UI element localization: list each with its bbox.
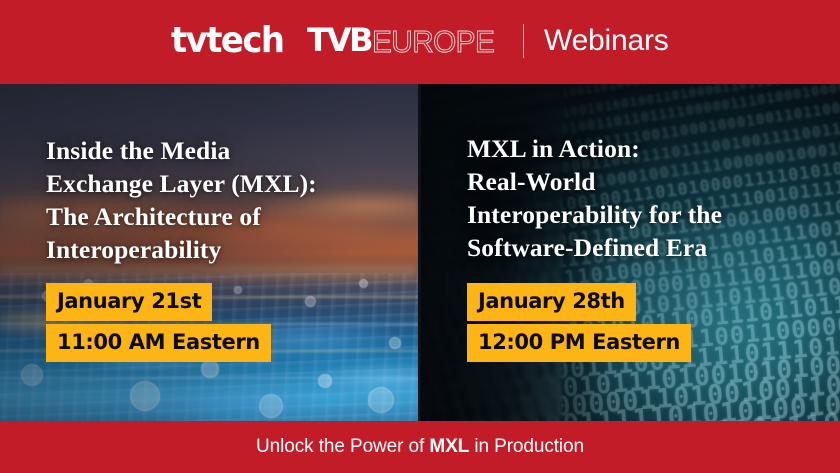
- webinar-title-left: Inside the Media Exchange Layer (MXL): T…: [46, 134, 404, 267]
- title-line: Interoperability for the: [467, 198, 832, 231]
- tvbeurope-logo-tvb[interactable]: TVB: [307, 25, 371, 57]
- title-line: Software-Defined Era: [467, 231, 832, 264]
- time-badge: 11:00 AM Eastern: [46, 324, 271, 362]
- footer-tagline-highlight: MXL: [429, 436, 469, 457]
- webinar-schedule-left: January 21st 11:00 AM Eastern: [46, 283, 271, 362]
- webinar-card-left-content: Inside the Media Exchange Layer (MXL): T…: [0, 84, 418, 421]
- footer-tagline: Unlock the Power of MXL in Production: [256, 436, 584, 458]
- webinar-title-right: MXL in Action: Real-World Interoperabili…: [467, 132, 832, 265]
- title-line: The Architecture of: [46, 200, 404, 233]
- date-badge: January 21st: [46, 283, 212, 321]
- header-bar: tvtech TVB EUROPE Webinars: [0, 0, 840, 84]
- webinar-card-left[interactable]: Inside the Media Exchange Layer (MXL): T…: [0, 84, 418, 421]
- tvtech-logo[interactable]: tvtech: [171, 23, 283, 59]
- date-badge: January 28th: [467, 283, 636, 321]
- title-line: Real-World: [467, 165, 832, 198]
- brand-logo-group: tvtech TVB EUROPE Webinars: [171, 23, 668, 59]
- tvbeurope-logo-europe[interactable]: EUROPE: [372, 26, 494, 57]
- footer-tagline-suffix: in Production: [469, 436, 584, 457]
- webinar-schedule-right: January 28th 12:00 PM Eastern: [467, 283, 691, 362]
- header-divider-icon: [523, 24, 524, 58]
- footer-bar: Unlock the Power of MXL in Production: [0, 421, 840, 473]
- title-line: Exchange Layer (MXL):: [46, 167, 404, 200]
- footer-tagline-prefix: Unlock the Power of: [256, 436, 429, 457]
- time-badge: 12:00 PM Eastern: [467, 324, 691, 362]
- webinar-promo-banner: tvtech TVB EUROPE Webinars: [0, 0, 840, 473]
- title-line: Interoperability: [46, 233, 404, 266]
- webinar-card-right-content: MXL in Action: Real-World Interoperabili…: [421, 84, 840, 421]
- header-section-label: Webinars: [544, 26, 669, 56]
- webinar-card-right[interactable]: 0101001110000000101001110001111111110010…: [421, 84, 840, 421]
- title-line: MXL in Action:: [467, 132, 832, 165]
- webinar-panels: Inside the Media Exchange Layer (MXL): T…: [0, 84, 840, 421]
- title-line: Inside the Media: [46, 134, 404, 167]
